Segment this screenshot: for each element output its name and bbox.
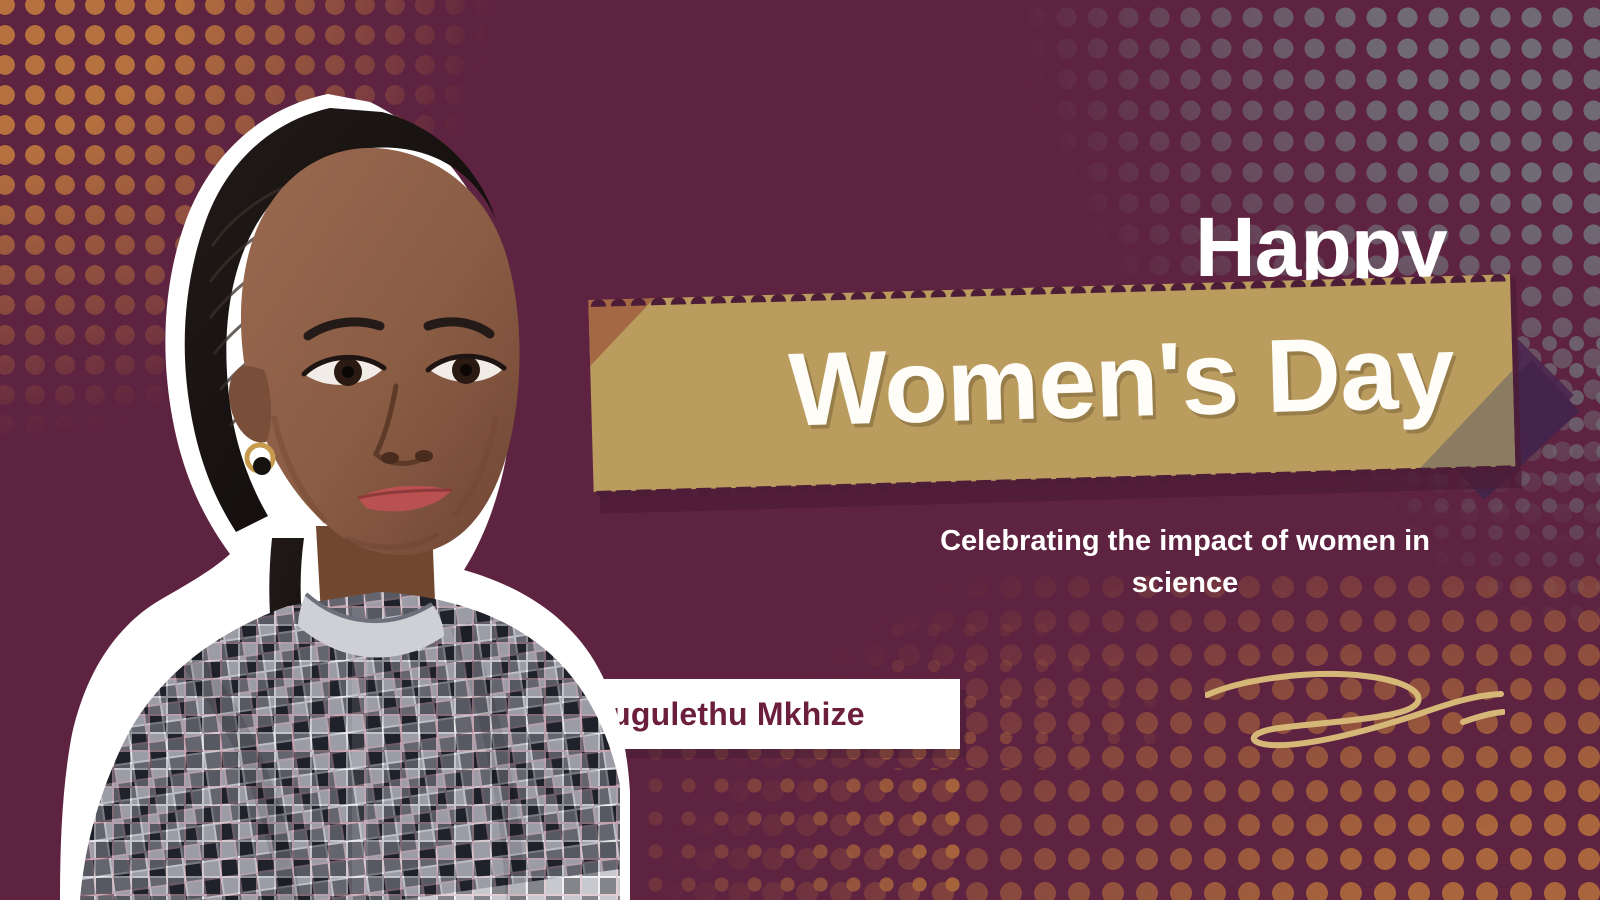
- page-title-line2: Women's Day: [588, 264, 1516, 502]
- page-subtitle: Celebrating the impact of women in scien…: [890, 520, 1480, 604]
- portrait-illustration: [60, 86, 630, 900]
- portrait-photo: [60, 86, 630, 900]
- gold-title-banner: Women's Day: [588, 264, 1516, 502]
- banner-body: Women's Day: [588, 264, 1516, 502]
- gold-swoosh-flourish-icon: [1205, 650, 1505, 760]
- womens-day-poster: Happy Women's Day Celebrating the impact…: [0, 0, 1600, 900]
